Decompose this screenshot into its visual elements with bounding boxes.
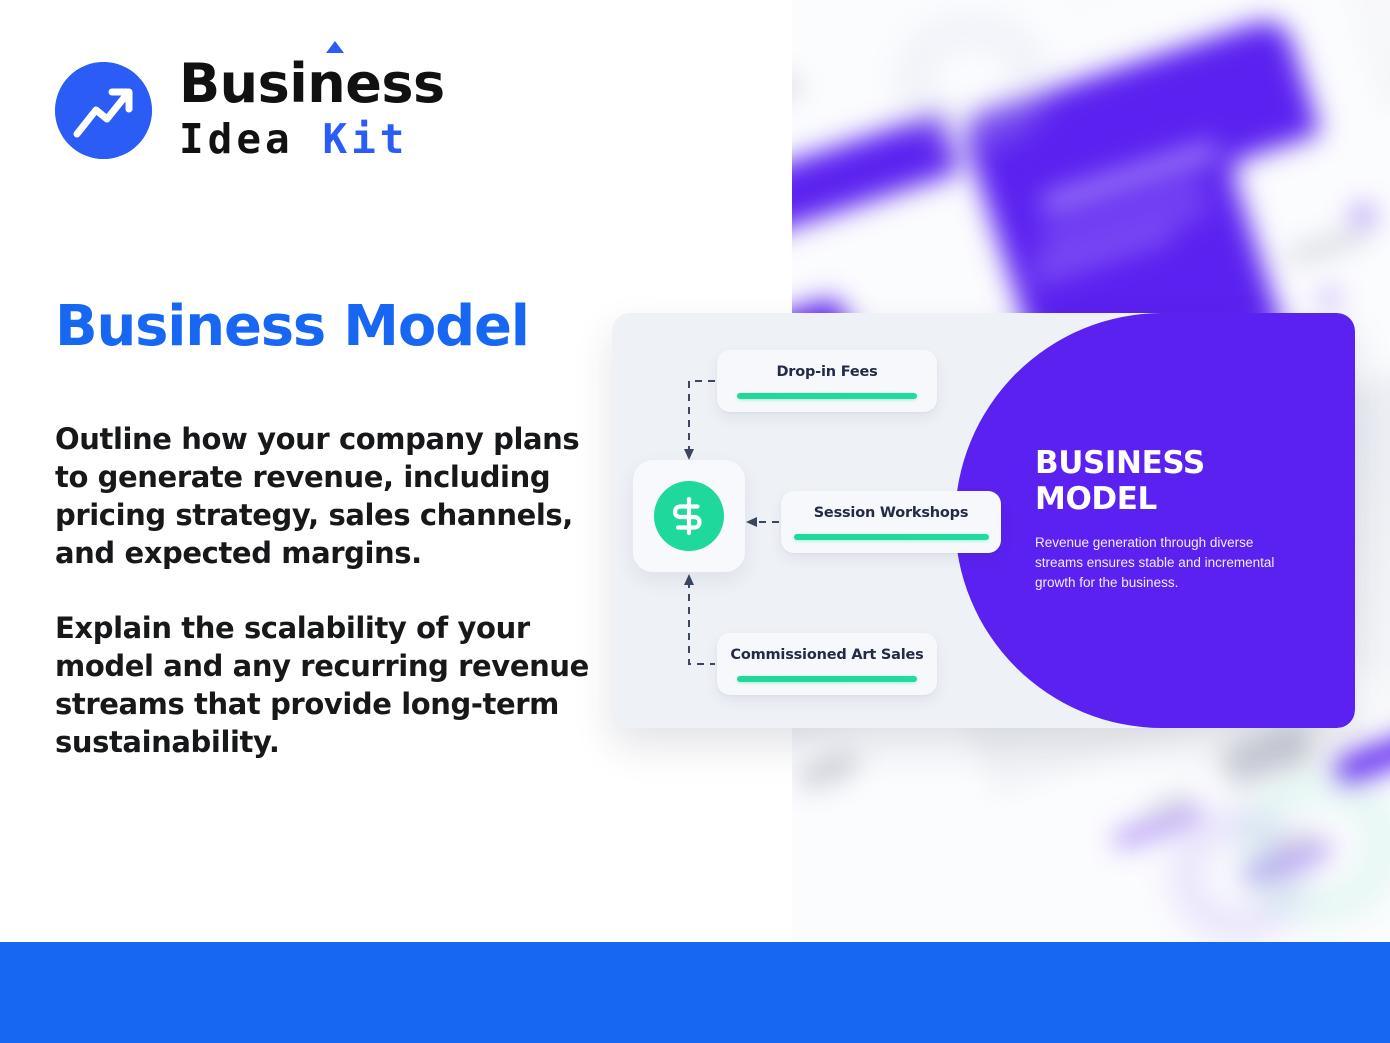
- revenue-stream-node[interactable]: Session Workshops: [781, 491, 1001, 553]
- footer-bar: [0, 942, 1390, 1043]
- brand-name-primary: Business: [179, 57, 445, 111]
- brand-name-idea: Idea: [179, 115, 294, 163]
- brand-name-kit: Kit: [322, 115, 408, 163]
- brand-name-primary-text: Business: [179, 52, 445, 115]
- card-purple-panel: BUSINESS MODEL Revenue generation throug…: [955, 313, 1355, 728]
- node-progress-bar: [737, 676, 917, 682]
- brand-logo: Business Idea Kit: [55, 57, 445, 163]
- node-label: Commissioned Art Sales: [730, 647, 923, 663]
- node-progress-bar: [737, 393, 917, 399]
- card-panel-description: Revenue generation through diverse strea…: [1035, 533, 1295, 593]
- slide-root: Business Idea Kit Business Model Outline…: [0, 0, 1390, 1043]
- node-label: Session Workshops: [814, 505, 969, 521]
- growth-chart-arrow-icon: [55, 62, 152, 159]
- page-title: Business Model: [55, 296, 529, 358]
- brand-name-secondary: Idea Kit: [179, 115, 445, 163]
- caret-accent-icon: [326, 41, 344, 53]
- node-label: Drop-in Fees: [776, 364, 877, 380]
- body-paragraph-2: Explain the scalability of your model an…: [55, 609, 595, 761]
- card-panel-title-line-1: BUSINESS: [1035, 445, 1295, 481]
- card-panel-title: BUSINESS MODEL: [1035, 445, 1295, 517]
- revenue-stream-node[interactable]: Commissioned Art Sales: [717, 633, 937, 695]
- node-progress-bar: [794, 534, 989, 540]
- revenue-hub: [633, 460, 745, 572]
- business-model-card: BUSINESS MODEL Revenue generation throug…: [612, 313, 1355, 728]
- card-panel-title-line-2: MODEL: [1035, 481, 1295, 517]
- body-paragraph-1: Outline how your company plans to genera…: [55, 420, 595, 572]
- revenue-stream-node[interactable]: Drop-in Fees: [717, 350, 937, 412]
- dollar-sign-icon: [654, 481, 724, 551]
